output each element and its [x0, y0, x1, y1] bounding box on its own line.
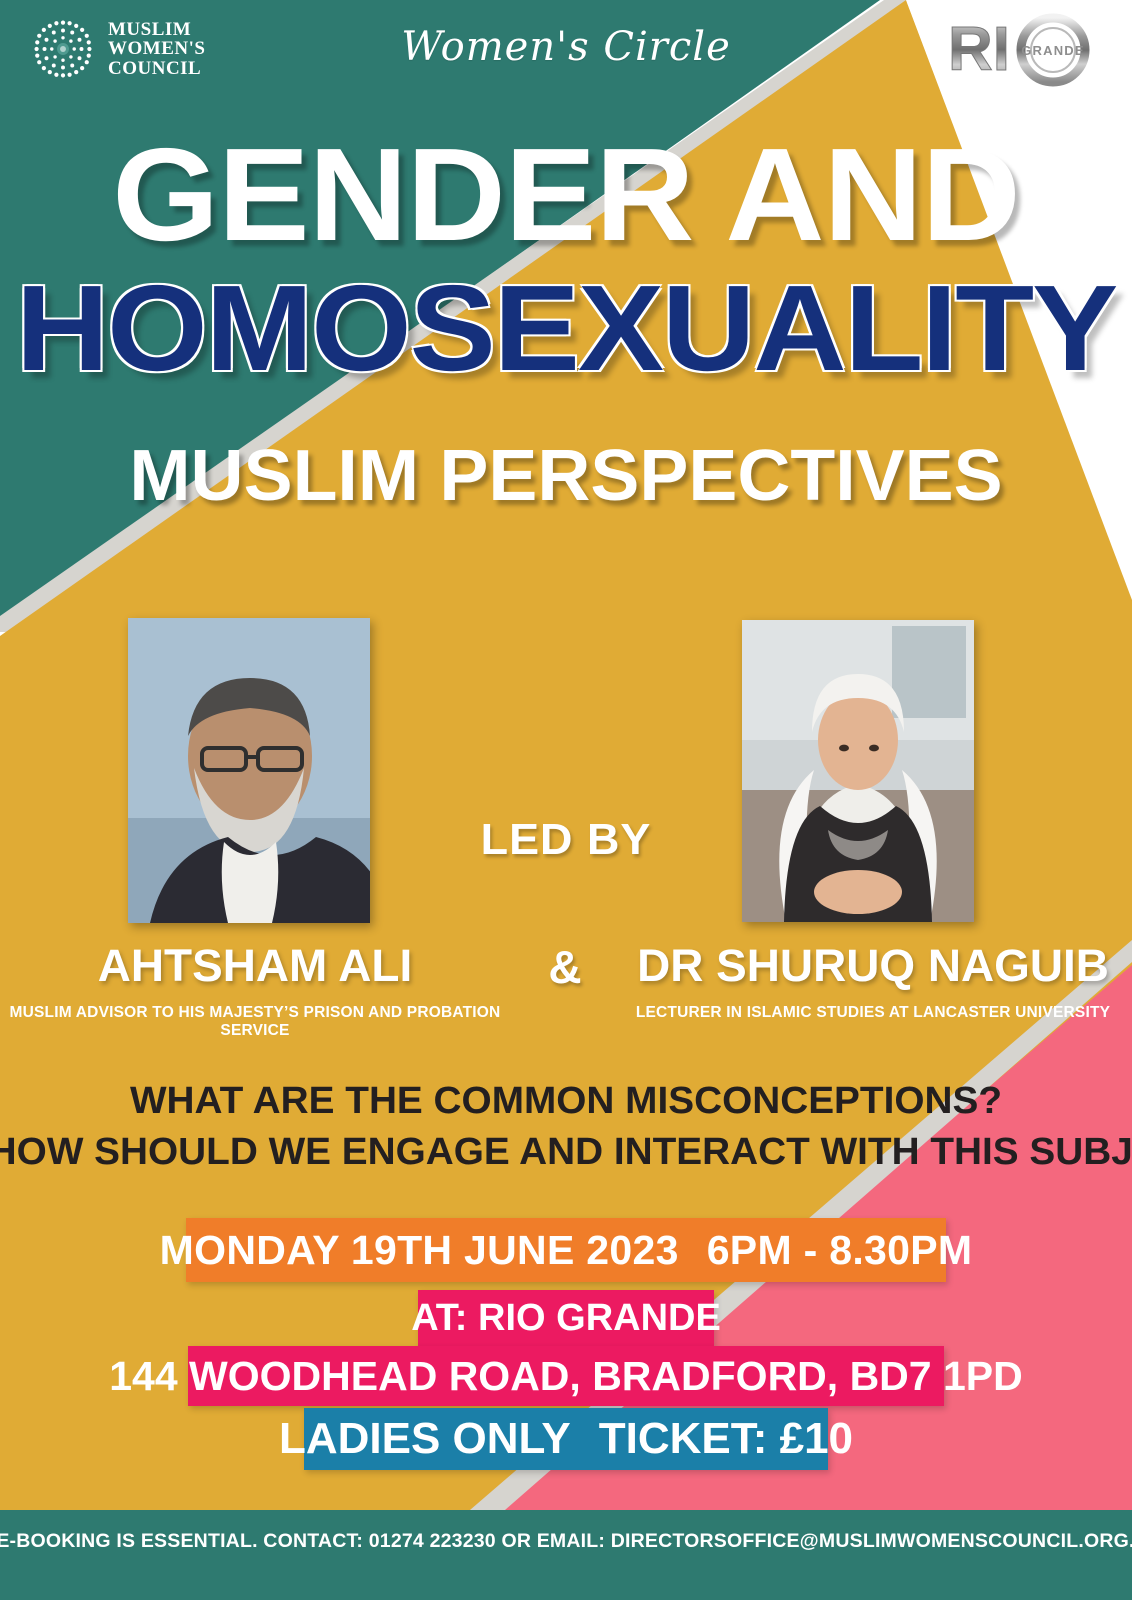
rio-wordmark: RI: [948, 15, 1010, 84]
event-date: MONDAY 19TH JUNE 2023: [160, 1227, 679, 1274]
date-time-bar: MONDAY 19TH JUNE 2023 6PM - 8.30PM: [186, 1218, 946, 1282]
grande-wordmark: GRANDE: [1021, 43, 1085, 58]
rio-grande-logo: RI GRANDE: [946, 8, 1096, 94]
title-line-1: GENDER AND: [0, 134, 1132, 255]
event-venue: AT: RIO GRANDE: [411, 1297, 721, 1340]
ticket-price: TICKET: £10: [599, 1414, 853, 1464]
led-by-label: LED BY: [407, 815, 725, 865]
event-address: 144 WOODHEAD ROAD, BRADFORD, BD7 1PD: [109, 1353, 1023, 1400]
audience-restriction: LADIES ONLY: [279, 1414, 571, 1464]
speaker-photo-shuruq-naguib: [742, 620, 974, 922]
venue-bar: AT: RIO GRANDE: [418, 1290, 714, 1346]
title-line-2: HOMOSEXUALITY: [0, 272, 1132, 384]
poster-header: MUSLIM WOMEN'S COUNCIL Women's Circle RI: [0, 0, 1132, 118]
questions-block: WHAT ARE THE COMMON MISCONCEPTIONS? HOW …: [0, 1076, 1132, 1179]
ticket-bar: LADIES ONLY TICKET: £10: [304, 1408, 828, 1470]
poster-footer: PRE-BOOKING IS ESSENTIAL. CONTACT: 01274…: [0, 1505, 1132, 1600]
speaker-role-right: LECTURER IN ISLAMIC STUDIES AT LANCASTER…: [618, 1004, 1128, 1022]
question-line-2: HOW SHOULD WE ENGAGE AND INTERACT WITH T…: [0, 1127, 1132, 1178]
booking-contact-text: PRE-BOOKING IS ESSENTIAL. CONTACT: 01274…: [0, 1530, 1132, 1553]
speaker-photo-ahtsham-ali: [128, 618, 370, 923]
speaker-name-right: DR SHURUQ NAGUIB: [613, 940, 1132, 992]
event-time: 6PM - 8.30PM: [707, 1227, 973, 1274]
question-line-1: WHAT ARE THE COMMON MISCONCEPTIONS?: [0, 1076, 1132, 1127]
speaker-name-left: AHTSHAM ALI: [0, 940, 515, 992]
speaker-role-left: MUSLIM ADVISOR TO HIS MAJESTY’S PRISON A…: [0, 1004, 510, 1040]
address-bar: 144 WOODHEAD ROAD, BRADFORD, BD7 1PD: [188, 1346, 944, 1406]
event-poster: MUSLIM WOMEN'S COUNCIL Women's Circle RI: [0, 0, 1132, 1600]
title-line-3: MUSLIM PERSPECTIVES: [0, 440, 1132, 512]
